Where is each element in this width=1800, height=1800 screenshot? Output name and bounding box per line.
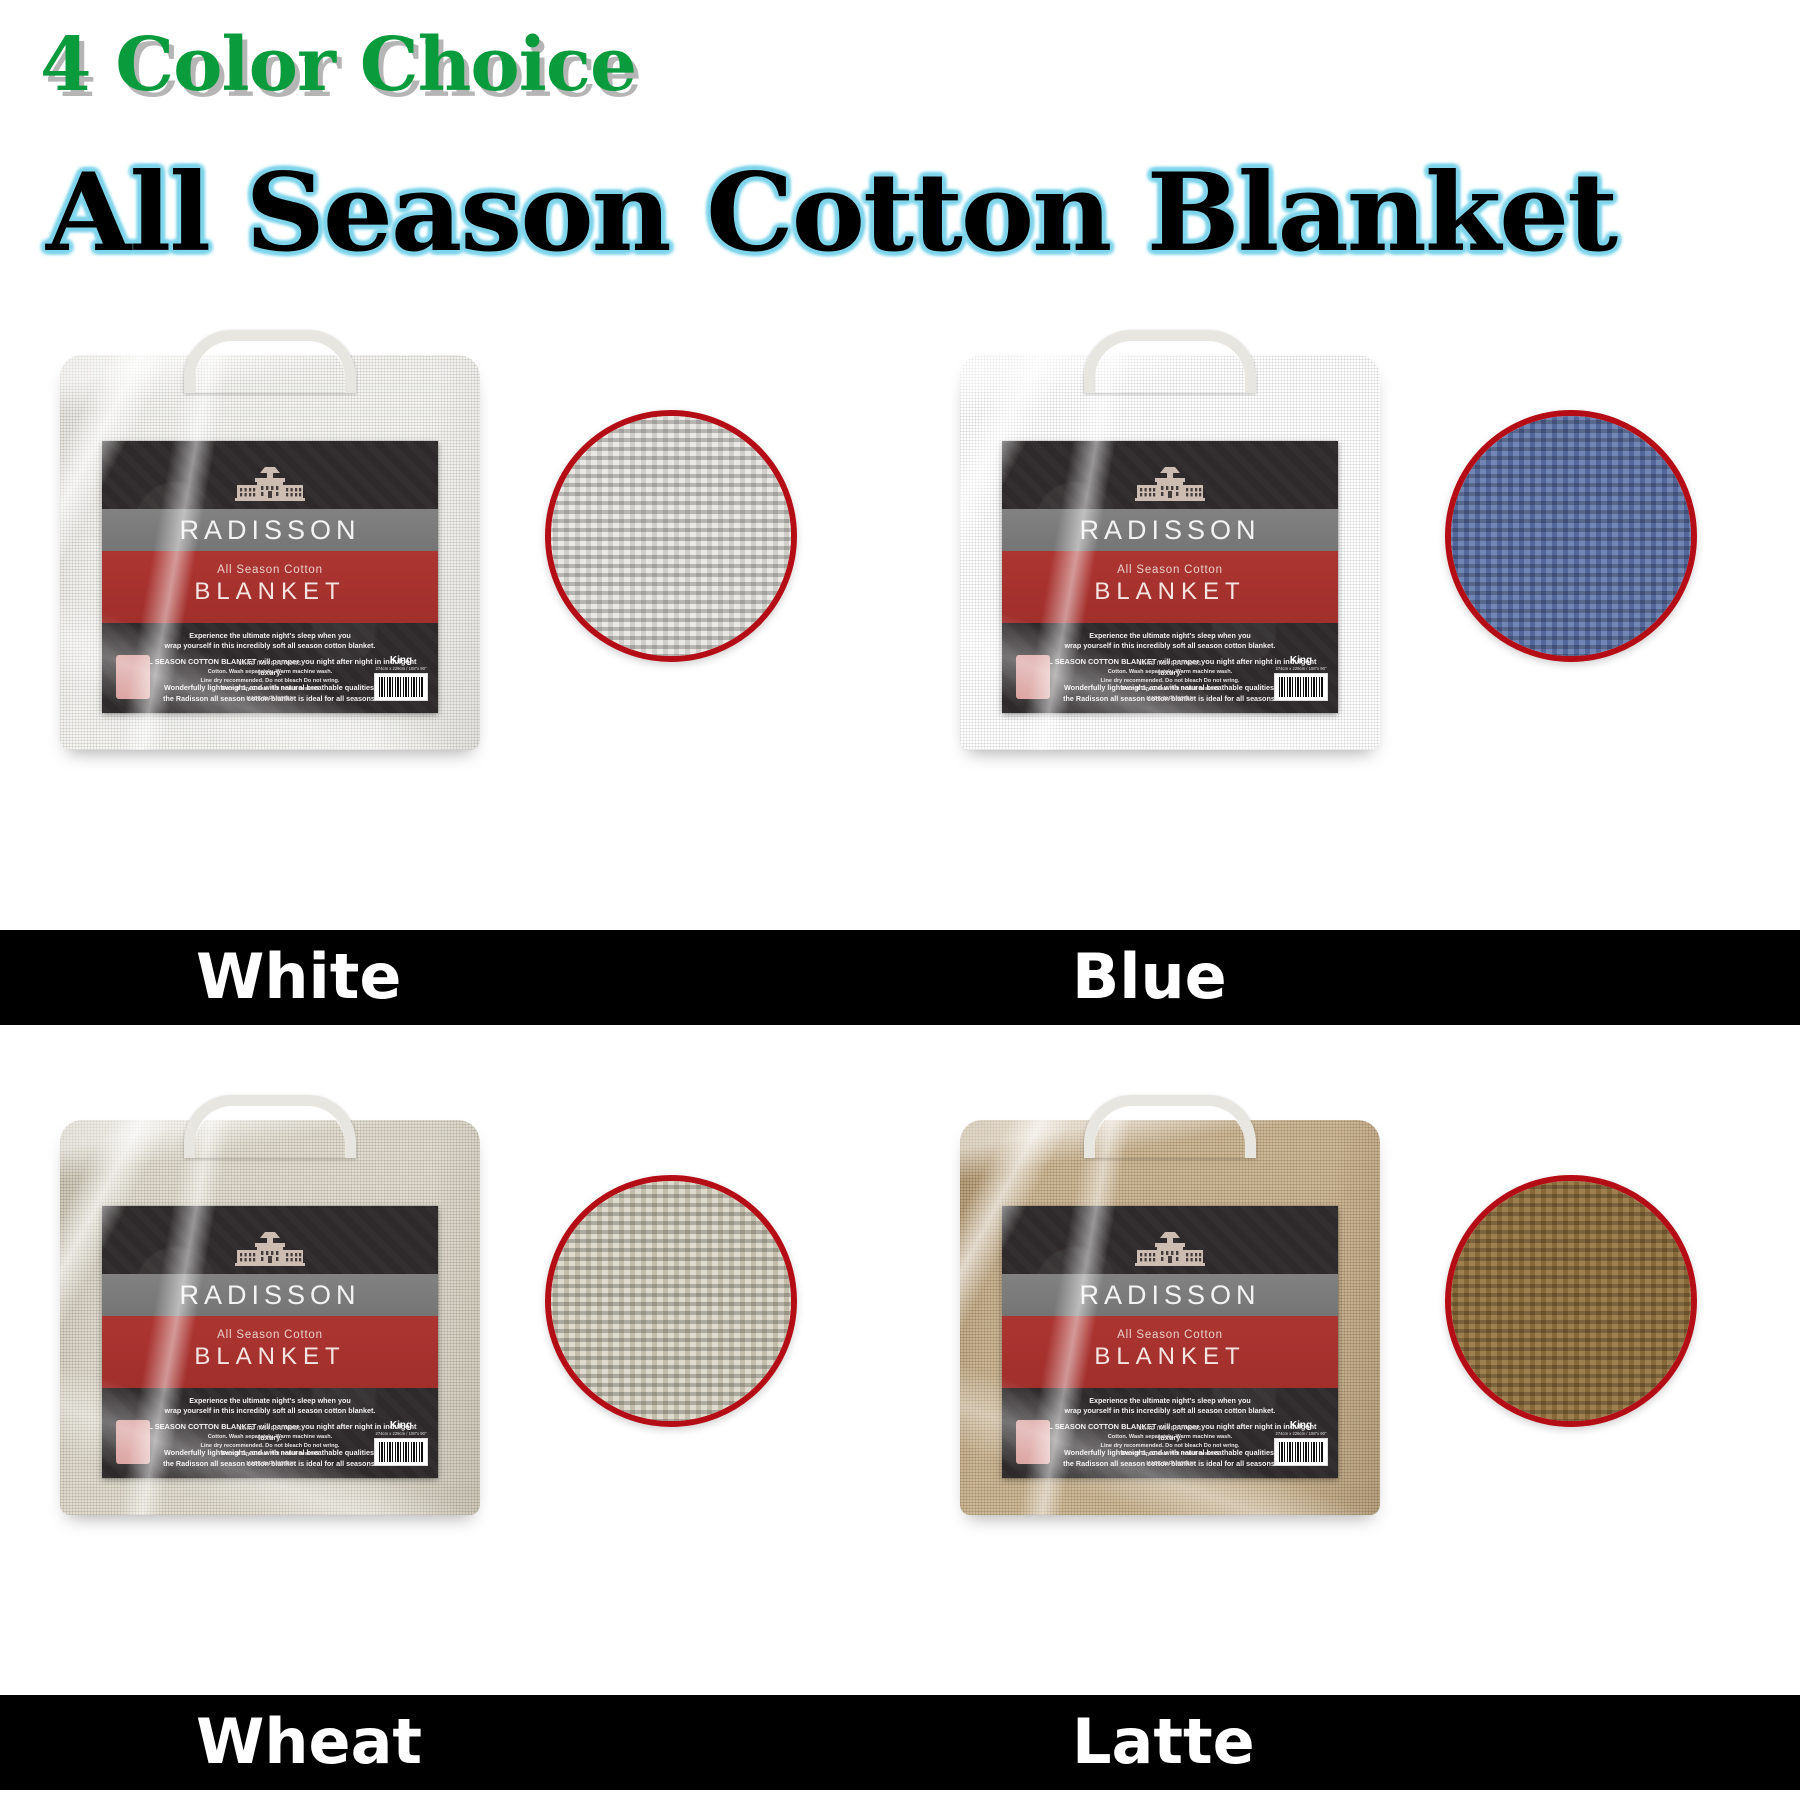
fabric-closeup-texture (545, 410, 797, 662)
size-dimensions: 274cm x 229cm / 108"x 90" (1274, 1431, 1328, 1436)
fabric-closeup-texture (1445, 410, 1697, 662)
package-handle (184, 1095, 356, 1158)
size-box: King 274cm x 229cm / 108"x 90" (1274, 655, 1328, 701)
package-handle (1084, 330, 1256, 393)
radisson-crest-logo (231, 1228, 309, 1270)
barcode (374, 673, 428, 701)
size-dimensions: 274cm x 229cm / 108"x 90" (1274, 666, 1328, 671)
size-label: King (374, 655, 428, 666)
care-line-2: Line dry recommended. Do not bleach Do n… (166, 677, 374, 685)
size-dimensions: 274cm x 229cm / 108"x 90" (374, 666, 428, 671)
size-box: King 274cm x 229cm / 108"x 90" (374, 1420, 428, 1466)
fabric-detail-circle[interactable] (545, 410, 797, 662)
kicker-text: 4 Color Choice (40, 22, 636, 108)
brand-name: RADISSON (1079, 1280, 1260, 1311)
caption-bar-bottom: Wheat Latte (0, 1695, 1800, 1790)
page-title: All Season Cotton Blanket (46, 150, 1616, 276)
variant-cell-latte[interactable]: RADISSON All Season Cotton BLANKET Exper… (900, 1095, 1800, 1695)
care-line-2: Line dry recommended. Do not bleach Do n… (166, 1442, 374, 1450)
brand-band: RADISSON (102, 509, 438, 551)
product-band: All Season Cotton BLANKET (1002, 1316, 1338, 1388)
barcode (374, 1438, 428, 1466)
size-box: King 274cm x 229cm / 108"x 90" (1274, 1420, 1328, 1466)
product-package[interactable]: RADISSON All Season Cotton BLANKET Exper… (960, 355, 1380, 750)
fabric-detail-circle[interactable] (545, 1175, 797, 1427)
care-header: CARE INSTRUCTIONS (1066, 661, 1274, 669)
variant-label-latte: Latte (1072, 1705, 1255, 1778)
product-name: BLANKET (102, 1343, 438, 1371)
product-name: BLANKET (1002, 1343, 1338, 1371)
radisson-crest-logo (1131, 463, 1209, 505)
product-listing-page: 4 Color Choice All Season Cotton Blanket (0, 0, 1800, 1800)
product-band: All Season Cotton BLANKET (102, 1316, 438, 1388)
product-subtitle: All Season Cotton (1002, 1329, 1338, 1341)
product-label: RADISSON All Season Cotton BLANKET Exper… (1002, 441, 1338, 713)
care-header: CARE INSTRUCTIONS (1066, 1426, 1274, 1434)
origin-text: MADE IN PAKISTAN (1066, 1461, 1274, 1469)
care-line-2: Line dry recommended. Do not bleach Do n… (1066, 677, 1274, 685)
product-label: RADISSON All Season Cotton BLANKET Exper… (102, 1206, 438, 1478)
variant-cell-white[interactable]: RADISSON All Season Cotton BLANKET Exper… (0, 330, 900, 930)
fabric-detail-circle[interactable] (1445, 410, 1697, 662)
care-line-3: Do not Dry Clean. Hot iron if desired (1066, 685, 1274, 693)
radisson-building-icon (231, 1228, 309, 1270)
product-name: BLANKET (102, 578, 438, 606)
copy-line-1: Experience the ultimate night's sleep wh… (114, 631, 426, 652)
product-package[interactable]: RADISSON All Season Cotton BLANKET Exper… (960, 1120, 1380, 1515)
origin-text: MADE IN PAKISTAN (166, 1461, 374, 1469)
origin-text: MADE IN PAKISTAN (1066, 696, 1274, 704)
product-subtitle: All Season Cotton (1002, 564, 1338, 576)
brand-name: RADISSON (179, 515, 360, 546)
variant-label-wheat: Wheat (196, 1705, 422, 1778)
care-header: CARE INSTRUCTIONS (166, 661, 374, 669)
copy-line-1: Experience the ultimate night's sleep wh… (114, 1396, 426, 1417)
product-band: All Season Cotton BLANKET (1002, 551, 1338, 623)
care-line-1: Cotton. Wash separately. Warm machine wa… (166, 1433, 374, 1441)
care-line-1: Cotton. Wash separately. Warm machine wa… (166, 668, 374, 676)
fabric-closeup-texture (545, 1175, 797, 1427)
package-handle (184, 330, 356, 393)
copy-line-1: Experience the ultimate night's sleep wh… (1014, 1396, 1326, 1417)
caption-bar-top: White Blue (0, 930, 1800, 1025)
care-line-3: Do not Dry Clean. Hot iron if desired (1066, 1450, 1274, 1458)
variant-cell-wheat[interactable]: RADISSON All Season Cotton BLANKET Exper… (0, 1095, 900, 1695)
care-line-3: Do not Dry Clean. Hot iron if desired (166, 1450, 374, 1458)
care-line-1: Cotton. Wash separately. Warm machine wa… (1066, 1433, 1274, 1441)
size-label: King (1274, 655, 1328, 666)
product-name: BLANKET (1002, 578, 1338, 606)
product-package[interactable]: RADISSON All Season Cotton BLANKET Exper… (60, 355, 480, 750)
care-line-1: Cotton. Wash separately. Warm machine wa… (1066, 668, 1274, 676)
size-box: King 274cm x 229cm / 108"x 90" (374, 655, 428, 701)
variant-label-blue: Blue (1072, 940, 1227, 1013)
product-subtitle: All Season Cotton (102, 564, 438, 576)
product-band: All Season Cotton BLANKET (102, 551, 438, 623)
radisson-building-icon (1131, 463, 1209, 505)
size-dimensions: 274cm x 229cm / 108"x 90" (374, 1431, 428, 1436)
product-label: RADISSON All Season Cotton BLANKET Exper… (102, 441, 438, 713)
brand-band: RADISSON (1002, 509, 1338, 551)
radisson-crest-logo (1131, 1228, 1209, 1270)
variant-label-white: White (196, 940, 401, 1013)
radisson-building-icon (1131, 1228, 1209, 1270)
brand-name: RADISSON (179, 1280, 360, 1311)
fabric-closeup-texture (1445, 1175, 1697, 1427)
origin-text: MADE IN PAKISTAN (166, 696, 374, 704)
size-label: King (1274, 1420, 1328, 1431)
package-handle (1084, 1095, 1256, 1158)
product-label: RADISSON All Season Cotton BLANKET Exper… (1002, 1206, 1338, 1478)
product-subtitle: All Season Cotton (102, 1329, 438, 1341)
brand-band: RADISSON (1002, 1274, 1338, 1316)
headline-block: 4 Color Choice All Season Cotton Blanket (0, 0, 1800, 300)
brand-name: RADISSON (1079, 515, 1260, 546)
barcode (1274, 673, 1328, 701)
copy-line-1: Experience the ultimate night's sleep wh… (1014, 631, 1326, 652)
radisson-crest-logo (231, 463, 309, 505)
barcode (1274, 1438, 1328, 1466)
size-label: King (374, 1420, 428, 1431)
care-line-2: Line dry recommended. Do not bleach Do n… (1066, 1442, 1274, 1450)
product-package[interactable]: RADISSON All Season Cotton BLANKET Exper… (60, 1120, 480, 1515)
care-line-3: Do not Dry Clean. Hot iron if desired (166, 685, 374, 693)
variant-cell-blue[interactable]: RADISSON All Season Cotton BLANKET Exper… (900, 330, 1800, 930)
care-header: CARE INSTRUCTIONS (166, 1426, 374, 1434)
fabric-detail-circle[interactable] (1445, 1175, 1697, 1427)
radisson-building-icon (231, 463, 309, 505)
brand-band: RADISSON (102, 1274, 438, 1316)
